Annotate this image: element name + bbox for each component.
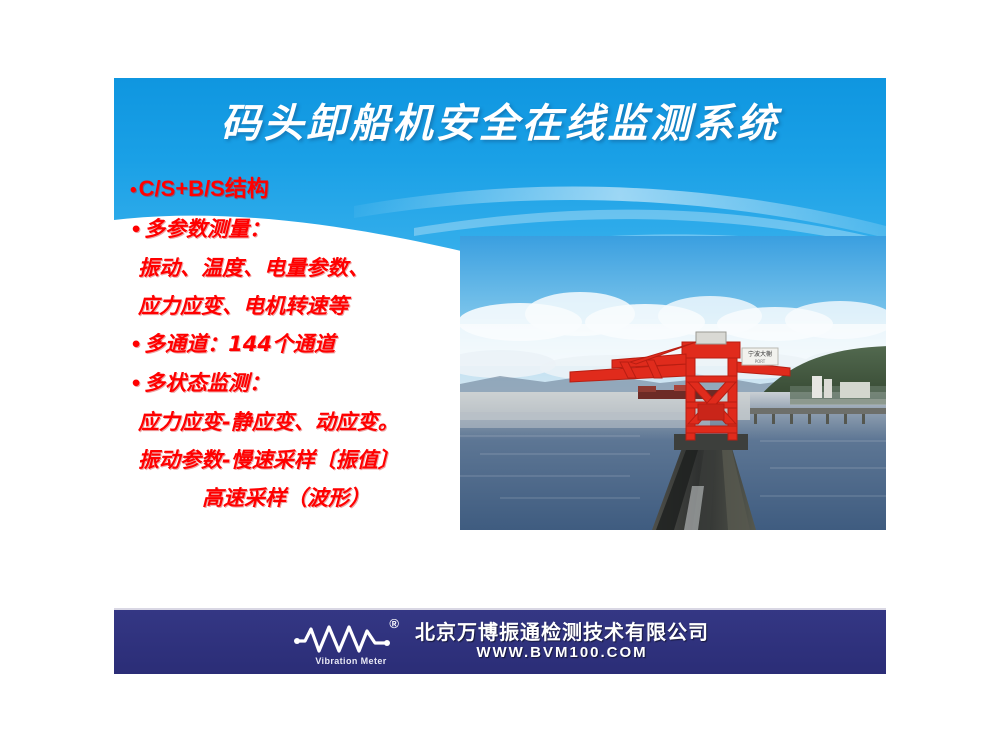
company-website[interactable]: WWW.BVM100.COM: [415, 644, 709, 662]
list-item-label: 振动参数-慢速采样〔振值〕: [138, 448, 399, 472]
footer-text-block: 北京万博振通检测技术有限公司 WWW.BVM100.COM: [415, 620, 709, 664]
footer-bar: ® Vibration Meter 北京万博振通检测技术有限公司 WWW.BVM…: [114, 608, 886, 674]
list-item-label: 多状态监测：: [144, 371, 270, 395]
list-item: 应力应变、电机转速等: [130, 287, 490, 325]
silo: [824, 379, 832, 398]
list-item-label: 应力应变-静应变、动应变。: [138, 410, 399, 434]
list-item: •多状态监测：: [130, 364, 490, 403]
list-item: •多通道：144个通道: [130, 325, 490, 364]
list-item: 振动、温度、电量参数、: [130, 249, 490, 287]
list-item-label: 高速采样（波形）: [202, 486, 370, 510]
list-item-label: C/S+B/S结构: [139, 176, 269, 201]
logo-caption: Vibration Meter: [299, 656, 403, 666]
svg-text:PORT: PORT: [755, 359, 766, 364]
page-title: 码头卸船机安全在线监测系统: [114, 98, 886, 150]
list-item: 应力应变-静应变、动应变。: [130, 403, 490, 441]
bullet-glyph: •: [130, 334, 144, 356]
bullet-glyph: •: [130, 373, 144, 395]
list-item-label: 应力应变、电机转速等: [138, 294, 348, 318]
crane-signboard: 宁波大榭 PORT: [742, 348, 778, 365]
list-item-label: 多参数测量：: [144, 217, 270, 241]
svg-text:宁波大榭: 宁波大榭: [748, 350, 772, 358]
bullet-list: •C/S+B/S结构 •多参数测量： 振动、温度、电量参数、 应力应变、电机转速…: [130, 170, 490, 517]
presentation-slide: 码头卸船机安全在线监测系统 •C/S+B/S结构 •多参数测量： 振动、温度、电…: [0, 0, 1000, 750]
ship-unloader-photo: 宁波大榭 PORT: [460, 236, 886, 530]
registered-trademark-icon: ®: [389, 617, 399, 630]
photo-illustration: 宁波大榭 PORT: [460, 236, 886, 530]
list-item: 高速采样（波形）: [130, 479, 490, 517]
company-logo: ® Vibration Meter: [291, 617, 403, 667]
list-item: •多参数测量：: [130, 210, 490, 249]
silo: [812, 376, 822, 398]
slide-content-panel: 码头卸船机安全在线监测系统 •C/S+B/S结构 •多参数测量： 振动、温度、电…: [114, 78, 886, 531]
bullet-glyph: •: [130, 180, 139, 201]
warehouse: [840, 382, 870, 398]
bullet-glyph: •: [130, 219, 144, 241]
list-item: 振动参数-慢速采样〔振值〕: [130, 441, 490, 479]
list-item: •C/S+B/S结构: [130, 170, 490, 210]
list-item-label: 振动、温度、电量参数、: [138, 256, 369, 280]
list-item-label: 多通道：144个通道: [144, 332, 335, 356]
vibration-waveform-icon: [291, 617, 403, 659]
company-name: 北京万博振通检测技术有限公司: [415, 620, 709, 644]
